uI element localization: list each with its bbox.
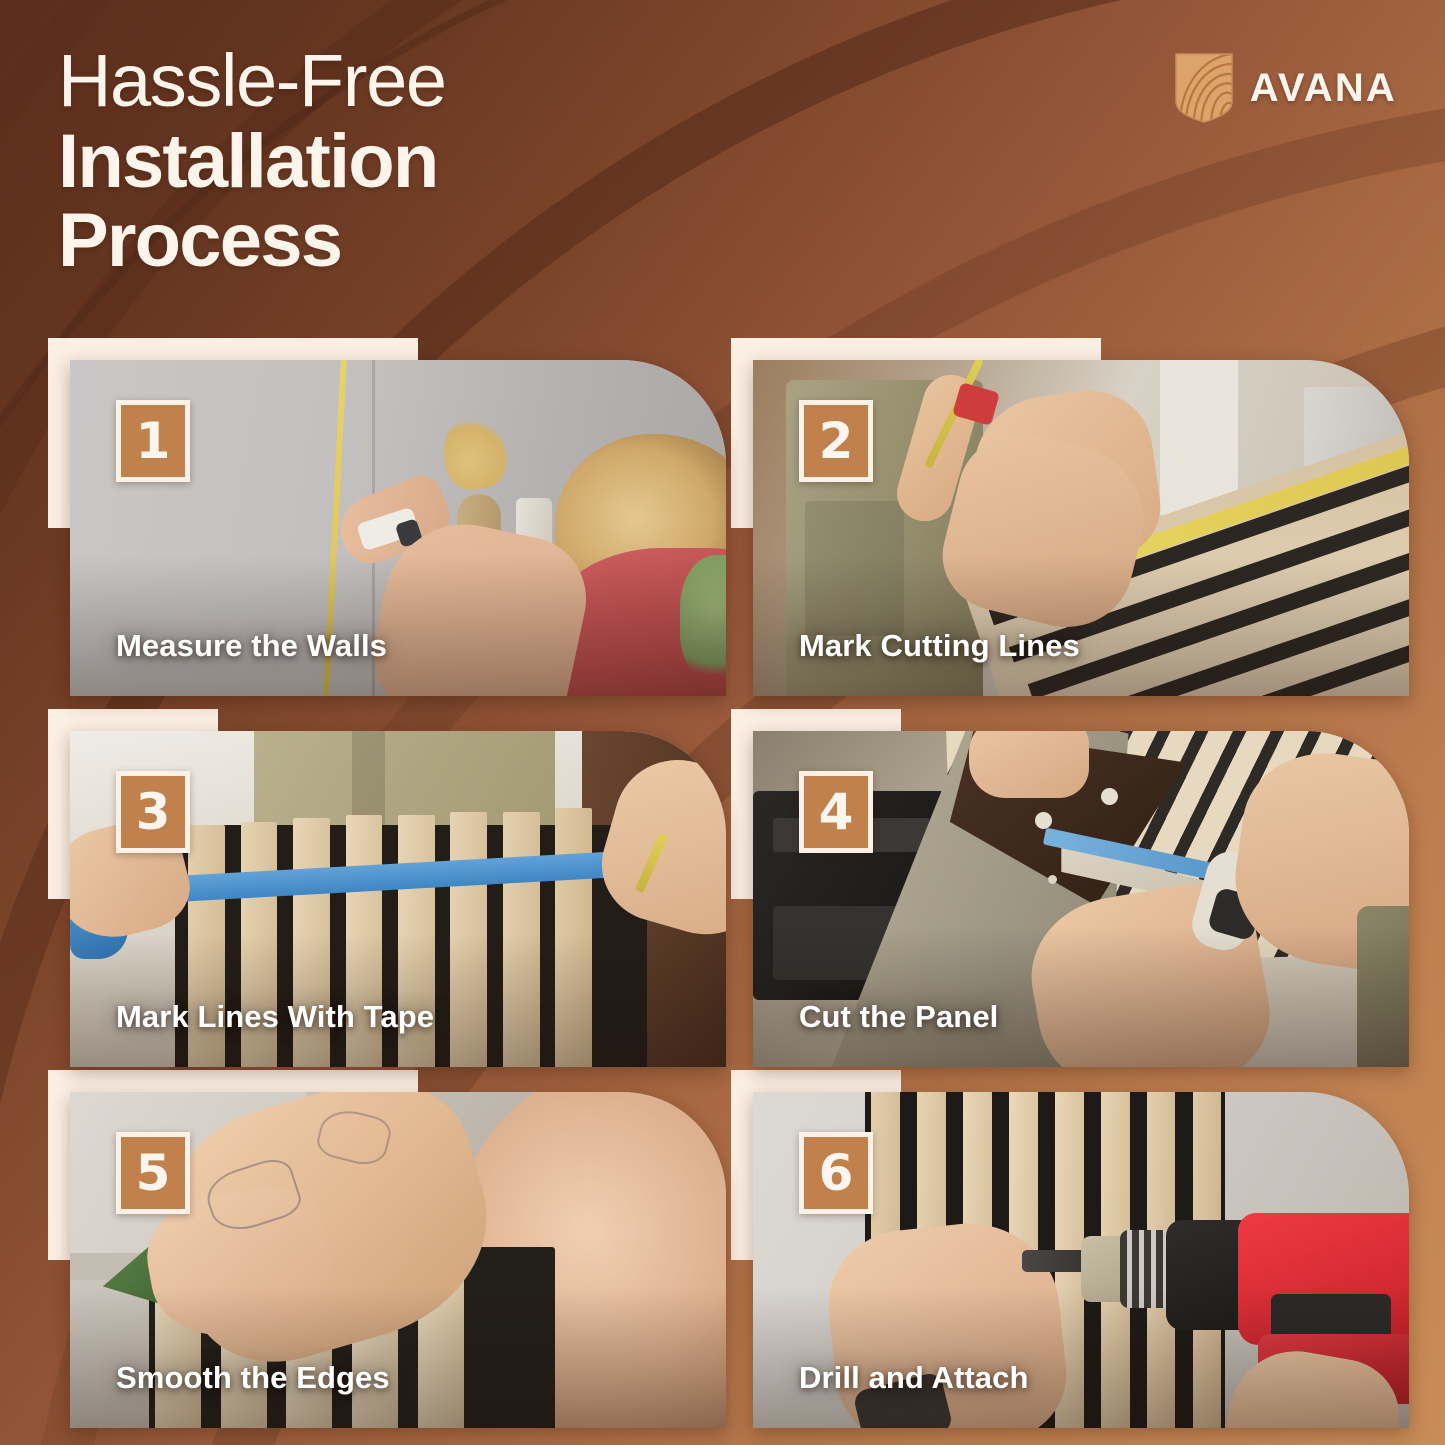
step-caption: Measure the Walls bbox=[116, 628, 387, 664]
step-image-4: 4 Cut the Panel bbox=[753, 731, 1409, 1067]
step-number-badge: 5 bbox=[116, 1132, 190, 1214]
step-number-badge: 2 bbox=[799, 400, 873, 482]
step-card-4[interactable]: 4 Cut the Panel bbox=[731, 709, 1411, 1069]
step-number-badge: 1 bbox=[116, 400, 190, 482]
title-line-2: Installation bbox=[58, 123, 758, 201]
step-image-2: 2 Mark Cutting Lines bbox=[753, 360, 1409, 696]
title-line-1: Hassle-Free bbox=[58, 44, 758, 117]
step-number-badge: 6 bbox=[799, 1132, 873, 1214]
step-caption: Mark Lines With Tape bbox=[116, 999, 434, 1035]
step-image-5: 5 Smooth the Edges bbox=[70, 1092, 726, 1428]
steps-grid: 1 Measure the Walls bbox=[0, 330, 1445, 1445]
step-card-2[interactable]: 2 Mark Cutting Lines bbox=[731, 338, 1411, 698]
logo-wordmark: AVANA bbox=[1250, 66, 1397, 111]
step-card-6[interactable]: 6 Drill and Attach bbox=[731, 1070, 1411, 1430]
step-number: 4 bbox=[819, 787, 854, 837]
step-card-1[interactable]: 1 Measure the Walls bbox=[48, 338, 728, 698]
step-number: 6 bbox=[819, 1148, 854, 1198]
step-number: 2 bbox=[819, 416, 854, 466]
page-title: Hassle-Free Installation Process bbox=[58, 44, 758, 280]
step-caption: Drill and Attach bbox=[799, 1360, 1029, 1396]
step-number-badge: 3 bbox=[116, 771, 190, 853]
step-number: 1 bbox=[136, 416, 171, 466]
step-number: 5 bbox=[136, 1148, 171, 1198]
step-caption: Smooth the Edges bbox=[116, 1360, 390, 1396]
step-caption: Cut the Panel bbox=[799, 999, 998, 1035]
step-image-1: 1 Measure the Walls bbox=[70, 360, 726, 696]
step-caption: Mark Cutting Lines bbox=[799, 628, 1080, 664]
step-image-6: 6 Drill and Attach bbox=[753, 1092, 1409, 1428]
step-number: 3 bbox=[136, 787, 171, 837]
title-line-3: Process bbox=[58, 202, 758, 280]
step-image-3: 3 Mark Lines With Tape bbox=[70, 731, 726, 1067]
step-card-5[interactable]: 5 Smooth the Edges bbox=[48, 1070, 728, 1430]
brand-logo: AVANA bbox=[1174, 52, 1397, 124]
step-card-3[interactable]: 3 Mark Lines With Tape bbox=[48, 709, 728, 1069]
step-number-badge: 4 bbox=[799, 771, 873, 853]
wood-block-icon bbox=[1174, 52, 1234, 124]
